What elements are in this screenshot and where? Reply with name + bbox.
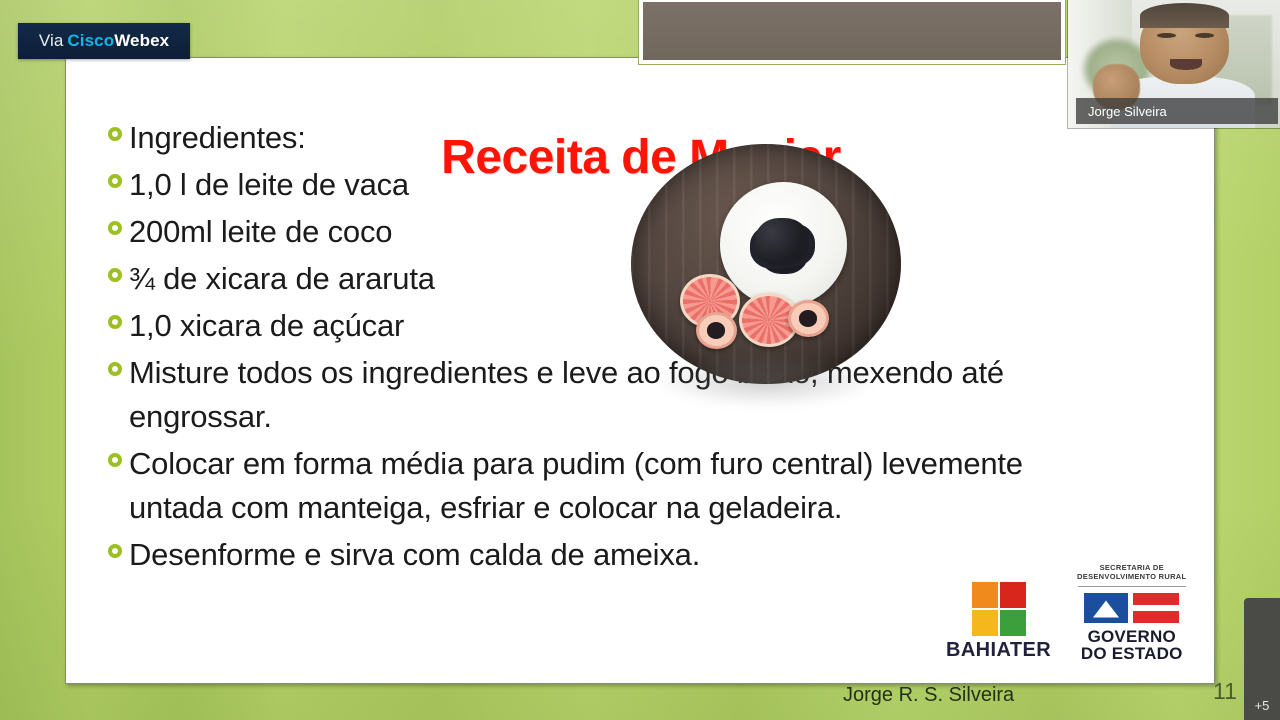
list-item-label: 1,0 xicara de açúcar: [129, 304, 404, 348]
slide-page-number: 11: [1213, 678, 1237, 705]
bahia-flag-icon: [1077, 593, 1186, 623]
bullet-ring-icon: [108, 174, 122, 188]
bullet-ring-icon: [108, 362, 122, 376]
list-item: Misture todos os ingredientes e leve ao …: [108, 351, 1108, 439]
badge-brand: Cisco: [67, 31, 114, 50]
list-item: ¾ de xicara de araruta: [108, 257, 1108, 301]
bullet-ring-icon: [108, 268, 122, 282]
list-item-label: ¾ de xicara de araruta: [129, 257, 435, 301]
secretaria-line-2: DESENVOLVIMENTO RURAL: [1077, 572, 1186, 581]
badge-prefix: Via: [39, 31, 64, 50]
bullet-ring-icon: [108, 315, 122, 329]
overflow-participants-count: +5: [1244, 698, 1280, 713]
fruit-ring: [696, 312, 737, 349]
list-item: Colocar em forma média para pudim (com f…: [108, 442, 1108, 530]
participant-hair: [1140, 3, 1229, 29]
list-item-label: 200ml leite de coco: [129, 210, 392, 254]
list-item-label: Misture todos os ingredientes e leve ao …: [129, 351, 1044, 439]
webex-branding-badge: ViaCiscoWebex: [18, 23, 190, 59]
fruit-ring: [788, 300, 829, 337]
flag-red-stripes: [1133, 593, 1179, 623]
list-item: 1,0 l de leite de vaca: [108, 163, 1108, 207]
list-item: 200ml leite de coco: [108, 210, 1108, 254]
participant-video-tile[interactable]: Jorge Silveira: [1068, 0, 1280, 128]
bullet-ring-icon: [108, 544, 122, 558]
photo-shadow: [653, 355, 880, 408]
governo-wordmark-line-2: DO ESTADO: [1077, 645, 1186, 662]
slide-top-image: [643, 2, 1061, 60]
list-item: 1,0 xicara de açúcar: [108, 304, 1108, 348]
manjar-dish-photo: [631, 144, 901, 384]
badge-product: Webex: [114, 31, 169, 50]
slide-footer-author: Jorge R. S. Silveira: [843, 684, 1014, 707]
logo-divider: [1078, 586, 1186, 587]
bullet-list: Ingredientes: 1,0 l de leite de vaca 200…: [108, 116, 1108, 580]
participant-name-label: Jorge Silveira: [1088, 104, 1167, 119]
screen-share-view: Receita de Manjar Ingredientes: 1,0 l de…: [0, 0, 1280, 720]
sponsor-logos: BAHIATER SECRETARIA DE DESENVOLVIMENTO R…: [946, 563, 1186, 662]
slide-top-image-block: [638, 0, 1066, 65]
participant-name-bar: Jorge Silveira: [1076, 98, 1278, 124]
slide-content-panel: Receita de Manjar Ingredientes: 1,0 l de…: [65, 57, 1215, 684]
list-item-label: Ingredientes:: [129, 116, 306, 160]
bahiater-mark-icon: [972, 582, 1026, 636]
governo-logo: SECRETARIA DE DESENVOLVIMENTO RURAL GOVE…: [1077, 563, 1186, 662]
secretaria-line-1: SECRETARIA DE: [1077, 563, 1186, 572]
bullet-ring-icon: [108, 453, 122, 467]
overflow-participants-panel[interactable]: +5: [1244, 598, 1280, 720]
list-item-label: Colocar em forma média para pudim (com f…: [129, 442, 1044, 530]
prune-topping: [755, 218, 809, 266]
bahiater-wordmark: BAHIATER: [946, 639, 1051, 662]
bullet-ring-icon: [108, 127, 122, 141]
bullet-ring-icon: [108, 221, 122, 235]
wooden-plate: [631, 144, 901, 384]
governo-wordmark-line-1: GOVERNO: [1077, 628, 1186, 645]
flag-blue-triangle: [1084, 593, 1128, 623]
list-item-label: Desenforme e sirva com calda de ameixa.: [129, 533, 700, 577]
list-item-label: 1,0 l de leite de vaca: [129, 163, 409, 207]
bahiater-logo: BAHIATER: [946, 582, 1051, 662]
list-item: Ingredientes:: [108, 116, 1108, 160]
